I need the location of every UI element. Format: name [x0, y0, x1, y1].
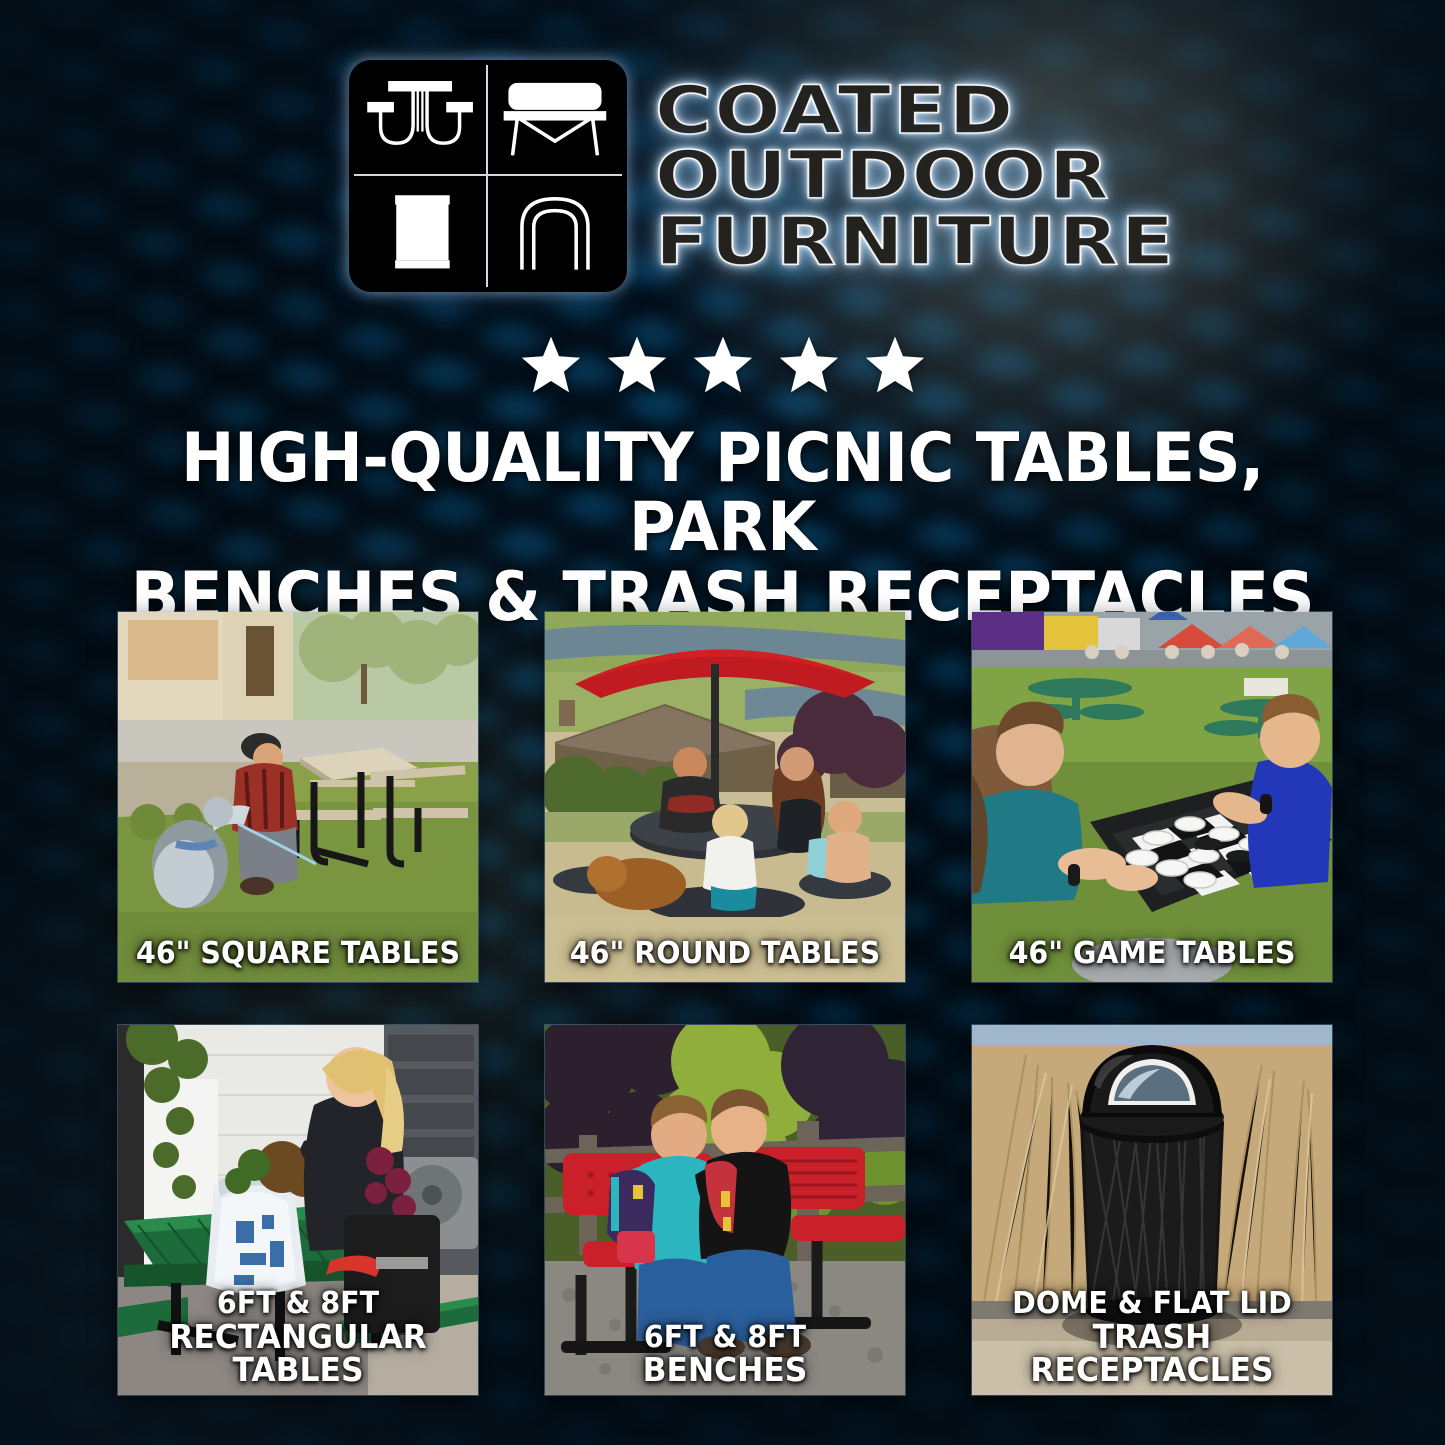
caption-line-1: 46" SQUARE TABLES — [136, 936, 460, 971]
logo-icon-grid — [349, 60, 627, 292]
product-caption: DOME & FLAT LID TRASH RECEPTACLES — [987, 1289, 1318, 1387]
product-grid: 46" SQUARE TABLES — [118, 612, 1334, 1395]
product-caption: 6FT & 8FT RECTANGULAR TABLES — [133, 1289, 464, 1387]
caption-line-2: RECTANGULAR TABLES — [133, 1320, 464, 1387]
caption-line-2: BENCHES — [560, 1353, 891, 1387]
bike-rack-icon — [488, 176, 622, 287]
brand-logo: COATED OUTDOOR FURNITURE — [0, 60, 1445, 292]
product-tile-rectangular-tables[interactable]: 6FT & 8FT RECTANGULAR TABLES — [118, 1025, 478, 1395]
caption-line-2: TRASH RECEPTACLES — [987, 1320, 1318, 1387]
brand-line-3: FURNITURE — [655, 210, 1176, 273]
product-caption: 46" SQUARE TABLES — [133, 939, 464, 970]
page-title: HIGH-QUALITY PICNIC TABLES, PARK BENCHES… — [90, 424, 1354, 632]
caption-line-1: 46" ROUND TABLES — [570, 936, 880, 971]
product-tile-benches[interactable]: 6FT & 8FT BENCHES — [545, 1025, 905, 1395]
caption-line-1: 6FT & 8FT — [217, 1286, 379, 1321]
trash-receptacle-icon — [354, 176, 488, 287]
product-tile-square-tables[interactable]: 46" SQUARE TABLES — [118, 612, 478, 982]
marketing-poster: COATED OUTDOOR FURNITURE HIGH-QUALITY PI… — [0, 0, 1445, 1445]
photo-round-table-red-umbrella — [545, 612, 905, 982]
caption-line-1: 46" GAME TABLES — [1009, 936, 1296, 971]
brand-line-2: OUTDOOR — [655, 144, 1176, 207]
product-caption: 6FT & 8FT BENCHES — [560, 1323, 891, 1387]
brand-line-1: COATED — [655, 79, 1176, 142]
photo-game-table-checkers — [972, 612, 1332, 982]
picnic-table-icon — [354, 65, 488, 176]
star-icon — [605, 334, 669, 396]
brand-wordmark: COATED OUTDOOR FURNITURE — [655, 79, 1097, 273]
product-tile-trash-receptacles[interactable]: DOME & FLAT LID TRASH RECEPTACLES — [972, 1025, 1332, 1395]
caption-line-1: DOME & FLAT LID — [1012, 1286, 1292, 1321]
star-icon — [863, 334, 927, 396]
photo-square-table-with-dog — [118, 612, 478, 982]
product-tile-round-tables[interactable]: 46" ROUND TABLES — [545, 612, 905, 982]
star-rating — [0, 334, 1445, 396]
star-icon — [691, 334, 755, 396]
star-icon — [519, 334, 583, 396]
star-icon — [777, 334, 841, 396]
product-caption: 46" GAME TABLES — [987, 939, 1318, 970]
caption-line-1: 6FT & 8FT — [644, 1320, 806, 1355]
park-bench-icon — [488, 65, 622, 176]
headline-line-1: HIGH-QUALITY PICNIC TABLES, PARK — [90, 424, 1354, 563]
product-tile-game-tables[interactable]: 46" GAME TABLES — [972, 612, 1332, 982]
product-caption: 46" ROUND TABLES — [560, 939, 891, 970]
